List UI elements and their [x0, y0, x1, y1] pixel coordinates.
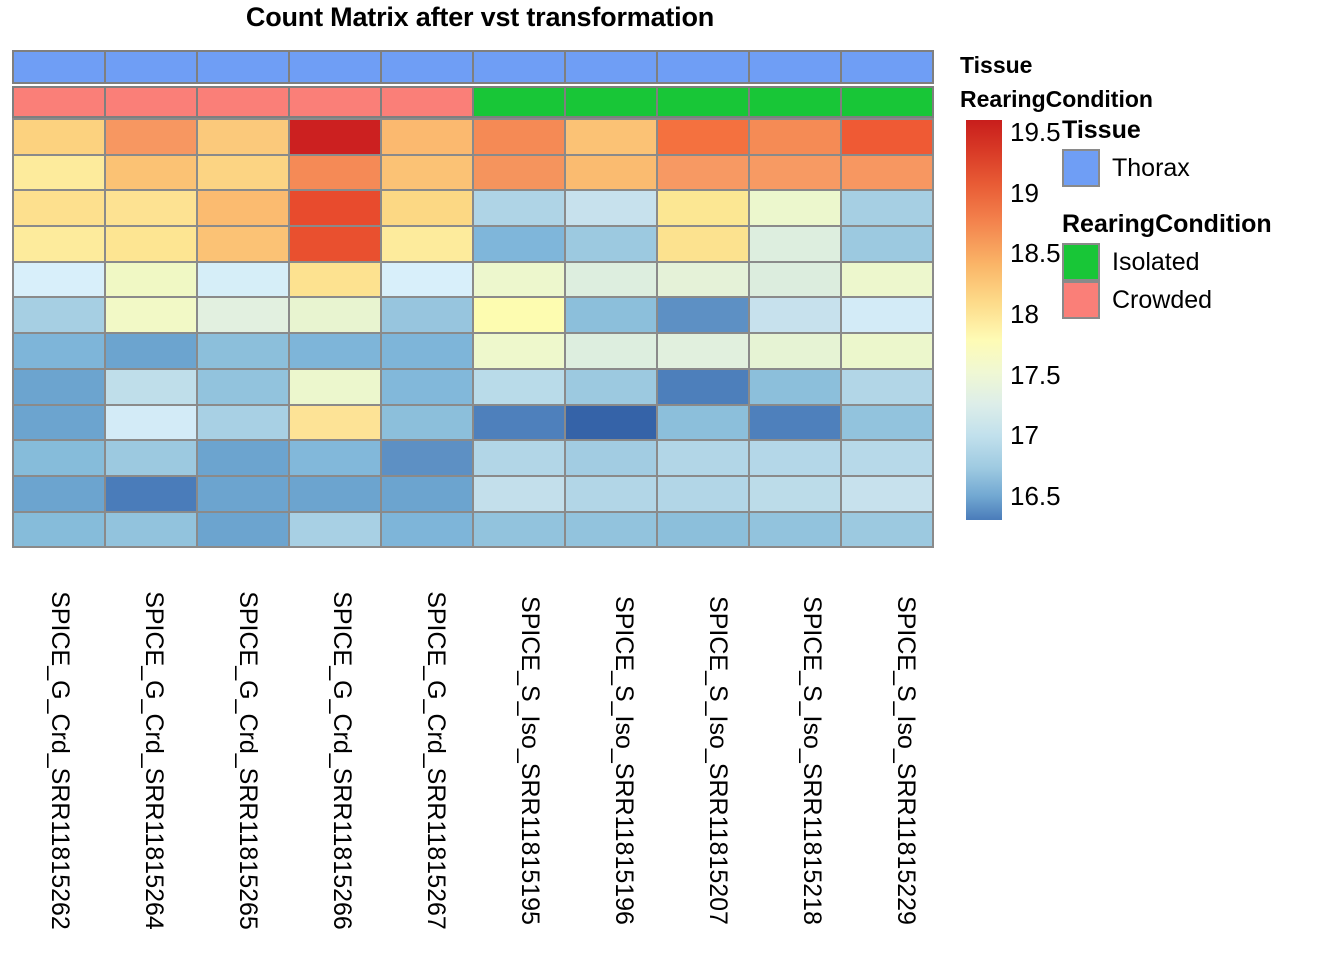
heatmap-cell [472, 118, 566, 156]
column-label: SPICE_S_Iso_SRR11815196 [576, 572, 670, 952]
column-label: SPICE_S_Iso_SRR11815195 [482, 572, 576, 952]
annotation-cell [656, 86, 750, 118]
heatmap-cell [840, 475, 934, 513]
column-label-text: SPICE_S_Iso_SRR11815229 [891, 596, 920, 925]
annotation-cell [288, 50, 382, 84]
column-label-text: SPICE_S_Iso_SRR11815218 [797, 596, 826, 925]
heatmap-cell [656, 511, 750, 549]
heatmap-row [12, 511, 932, 547]
heatmap-cell [564, 368, 658, 406]
legend-item[interactable]: Thorax [1062, 149, 1190, 187]
heatmap-cell [472, 154, 566, 192]
heatmap-cell [564, 154, 658, 192]
column-label: SPICE_G_Crd_SRR11815264 [106, 572, 200, 952]
heatmap-cell [380, 189, 474, 227]
legend-swatch [1062, 149, 1100, 187]
colorbar-tick-label: 19.5 [1010, 119, 1061, 145]
heatmap-cell [12, 404, 106, 442]
annotation-cell [380, 86, 474, 118]
heatmap-cell [12, 368, 106, 406]
heatmap-cell [288, 261, 382, 299]
heatmap-cell [564, 118, 658, 156]
heatmap-cell [104, 154, 198, 192]
heatmap-grid [12, 118, 932, 546]
annotation-cell [564, 86, 658, 118]
heatmap-cell [656, 261, 750, 299]
heatmap-row [12, 261, 932, 297]
heatmap-cell [748, 404, 842, 442]
annotation-cell [196, 50, 290, 84]
heatmap-cell [748, 511, 842, 549]
column-label: SPICE_S_Iso_SRR11815229 [858, 572, 952, 952]
legend-item-label: Crowded [1112, 286, 1212, 315]
heatmap-row [12, 154, 932, 190]
legend-tissue-items: Thorax [1062, 149, 1190, 187]
heatmap-cell [840, 261, 934, 299]
heatmap-cell [840, 404, 934, 442]
legend-tissue-title: Tissue [1062, 118, 1190, 143]
annotation-cell [12, 86, 106, 118]
heatmap-cell [12, 332, 106, 370]
heatmap-cell [564, 296, 658, 334]
heatmap-cell [288, 225, 382, 263]
heatmap-cell [380, 368, 474, 406]
heatmap-cell [380, 296, 474, 334]
column-label: SPICE_S_Iso_SRR11815207 [670, 572, 764, 952]
heatmap-cell [380, 225, 474, 263]
heatmap-cell [748, 475, 842, 513]
column-label-text: SPICE_G_Crd_SRR11815266 [327, 591, 356, 930]
heatmap-cell [196, 225, 290, 263]
heatmap-cell [196, 189, 290, 227]
heatmap-cell [380, 261, 474, 299]
heatmap-row [12, 118, 932, 154]
heatmap-row [12, 296, 932, 332]
heatmap-cell [564, 475, 658, 513]
heatmap-cell [196, 368, 290, 406]
column-label: SPICE_G_Crd_SRR11815262 [12, 572, 106, 952]
column-label-text: SPICE_G_Crd_SRR11815265 [233, 591, 262, 930]
heatmap-cell [840, 118, 934, 156]
column-label: SPICE_G_Crd_SRR11815266 [294, 572, 388, 952]
heatmap-cell [104, 511, 198, 549]
column-label: SPICE_G_Crd_SRR11815265 [200, 572, 294, 952]
heatmap-cell [840, 154, 934, 192]
heatmap-cell [12, 189, 106, 227]
colorbar-tick-label: 19 [1010, 180, 1039, 206]
heatmap-cell [656, 296, 750, 334]
heatmap-cell [656, 368, 750, 406]
annotation-cell [104, 86, 198, 118]
annotation-cell [564, 50, 658, 84]
legend-item[interactable]: Isolated [1062, 243, 1272, 281]
heatmap-cell [104, 332, 198, 370]
heatmap-cell [656, 225, 750, 263]
heatmap-cell [564, 225, 658, 263]
heatmap-cell [12, 261, 106, 299]
heatmap-cell [380, 332, 474, 370]
legend-tissue: Tissue Thorax [1062, 118, 1190, 187]
column-label-text: SPICE_S_Iso_SRR11815207 [703, 596, 732, 925]
legend-swatch [1062, 243, 1100, 281]
heatmap-cell [288, 368, 382, 406]
annotation-cell [12, 50, 106, 84]
heatmap-cell [288, 296, 382, 334]
annotation-cell [656, 50, 750, 84]
rearing-condition-annotation-label: RearingCondition [960, 88, 1153, 111]
heatmap-cell [12, 118, 106, 156]
heatmap-cell [656, 475, 750, 513]
heatmap-cell [104, 475, 198, 513]
heatmap-cell [12, 439, 106, 477]
column-label-text: SPICE_S_Iso_SRR11815196 [609, 596, 638, 925]
heatmap-row [12, 332, 932, 368]
heatmap-cell [196, 439, 290, 477]
heatmap-cell [104, 296, 198, 334]
heatmap-cell [104, 225, 198, 263]
tissue-annotation-row [12, 50, 932, 84]
heatmap-cell [656, 404, 750, 442]
legend-rearing-condition-items: IsolatedCrowded [1062, 243, 1272, 319]
heatmap-cell [472, 332, 566, 370]
heatmap-cell [196, 296, 290, 334]
annotation-cell [104, 50, 198, 84]
heatmap-cell [748, 154, 842, 192]
heatmap-cell [748, 368, 842, 406]
legend-rearing-condition: RearingCondition IsolatedCrowded [1062, 212, 1272, 319]
column-label-text: SPICE_G_Crd_SRR11815264 [139, 591, 168, 930]
legend-rearing-condition-title: RearingCondition [1062, 212, 1272, 237]
heatmap-cell [472, 368, 566, 406]
tissue-annotation-label: Tissue [960, 54, 1032, 77]
heatmap-cell [104, 118, 198, 156]
heatmap-cell [196, 118, 290, 156]
heatmap-cell [840, 439, 934, 477]
heatmap-cell [472, 189, 566, 227]
heatmap-cell [656, 154, 750, 192]
heatmap-cell [12, 296, 106, 334]
column-label-text: SPICE_S_Iso_SRR11815195 [515, 596, 544, 925]
colorbar-tick-label: 17 [1010, 422, 1039, 448]
heatmap-row [12, 404, 932, 440]
heatmap-cell [196, 475, 290, 513]
heatmap-cell [380, 404, 474, 442]
heatmap-cell [12, 225, 106, 263]
heatmap-cell [564, 332, 658, 370]
heatmap-cell [656, 118, 750, 156]
heatmap-cell [380, 118, 474, 156]
heatmap-cell [840, 332, 934, 370]
heatmap-cell [564, 189, 658, 227]
heatmap-cell [380, 475, 474, 513]
legend-swatch [1062, 281, 1100, 319]
heatmap-cell [748, 225, 842, 263]
heatmap-cell [12, 475, 106, 513]
heatmap-cell [840, 511, 934, 549]
heatmap-cell [380, 511, 474, 549]
heatmap-cell [748, 118, 842, 156]
heatmap-cell [748, 296, 842, 334]
heatmap-cell [472, 439, 566, 477]
heatmap-cell [288, 332, 382, 370]
annotation-cell [748, 86, 842, 118]
heatmap-cell [748, 261, 842, 299]
heatmap-row [12, 189, 932, 225]
heatmap-cell [840, 225, 934, 263]
annotation-cell [840, 86, 934, 118]
heatmap-cell [196, 511, 290, 549]
heatmap-cell [380, 439, 474, 477]
annotation-cell [748, 50, 842, 84]
heatmap-cell [840, 368, 934, 406]
heatmap-cell [104, 404, 198, 442]
heatmap-cell [12, 511, 106, 549]
rearing-condition-annotation-row [12, 86, 932, 118]
legend-item-label: Isolated [1112, 248, 1200, 277]
heatmap-cell [196, 332, 290, 370]
heatmap-cell [288, 475, 382, 513]
page-title: Count Matrix after vst transformation [0, 2, 960, 33]
column-label: SPICE_S_Iso_SRR11815218 [764, 572, 858, 952]
heatmap-cell [564, 404, 658, 442]
heatmap-cell [472, 511, 566, 549]
heatmap-row [12, 368, 932, 404]
heatmap-cell [472, 261, 566, 299]
heatmap-cell [564, 511, 658, 549]
annotation-cell [472, 50, 566, 84]
colorbar-tick-label: 18.5 [1010, 240, 1061, 266]
annotation-cell [380, 50, 474, 84]
legend-item[interactable]: Crowded [1062, 281, 1272, 319]
heatmap-cell [564, 439, 658, 477]
heatmap-cell [288, 511, 382, 549]
heatmap-cell [380, 154, 474, 192]
heatmap-cell [12, 154, 106, 192]
heatmap-cell [656, 439, 750, 477]
heatmap-cell [288, 118, 382, 156]
heatmap-cell [196, 404, 290, 442]
heatmap-cell [472, 475, 566, 513]
column-label-text: SPICE_G_Crd_SRR11815267 [421, 591, 450, 930]
heatmap-cell [104, 261, 198, 299]
heatmap-cell [748, 439, 842, 477]
heatmap-cell [840, 296, 934, 334]
heatmap-cell [840, 189, 934, 227]
heatmap-cell [472, 225, 566, 263]
heatmap-cell [748, 189, 842, 227]
colorbar-tick-label: 16.5 [1010, 483, 1061, 509]
heatmap-cell [288, 154, 382, 192]
heatmap-cell [656, 332, 750, 370]
heatmap-cell [472, 404, 566, 442]
colorbar: 19.51918.51817.51716.5 [966, 120, 1002, 520]
heatmap-cell [656, 189, 750, 227]
annotation-cell [288, 86, 382, 118]
heatmap-cell [748, 332, 842, 370]
heatmap-cell [196, 154, 290, 192]
heatmap-cell [196, 261, 290, 299]
heatmap-cell [288, 404, 382, 442]
heatmap-cell [104, 439, 198, 477]
colorbar-tick-label: 18 [1010, 301, 1039, 327]
heatmap-cell [104, 368, 198, 406]
annotation-cell [472, 86, 566, 118]
heatmap-row [12, 475, 932, 511]
colorbar-tick-label: 17.5 [1010, 362, 1061, 388]
annotation-cell [840, 50, 934, 84]
column-label-text: SPICE_G_Crd_SRR11815262 [45, 591, 74, 930]
heatmap-cell [288, 439, 382, 477]
heatmap-cell [472, 296, 566, 334]
heatmap-cell [104, 189, 198, 227]
annotation-cell [196, 86, 290, 118]
colorbar-gradient [966, 120, 1002, 520]
heatmap-cell [288, 189, 382, 227]
heatmap-row [12, 439, 932, 475]
heatmap-row [12, 225, 932, 261]
column-label: SPICE_G_Crd_SRR11815267 [388, 572, 482, 952]
heatmap-cell [564, 261, 658, 299]
legend-item-label: Thorax [1112, 154, 1190, 183]
